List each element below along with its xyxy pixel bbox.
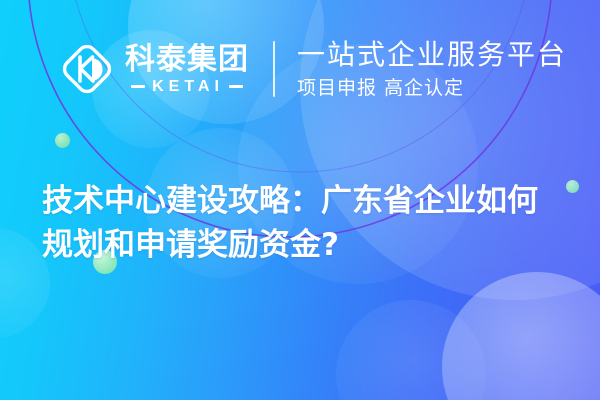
banner-header: 科泰集团 KETAI 一站式企业服务平台 项目申报 高企认定	[0, 38, 600, 100]
tagline-primary: 一站式企业服务平台	[297, 38, 567, 72]
brand-logo[interactable]: 科泰集团 KETAI	[58, 40, 249, 98]
decorative-circle-bottom-right	[442, 272, 600, 400]
ketai-diamond-kd-logo-icon	[58, 40, 116, 98]
decorative-green-dot-small	[55, 133, 70, 148]
header-divider	[273, 41, 275, 97]
wordmark-rule-right	[229, 85, 243, 88]
wordmark-rule-left	[131, 85, 145, 88]
banner-headline: 技术中心建设攻略：广东省企业如何规划和申请奖励资金?	[42, 179, 566, 267]
brand-name-en-row: KETAI	[125, 78, 249, 95]
brand-name-en: KETAI	[152, 78, 224, 95]
tagline-block: 一站式企业服务平台 项目申报 高企认定	[297, 38, 567, 100]
decorative-green-dot-right	[566, 180, 579, 193]
decorative-circle-bottom-middle	[336, 300, 486, 400]
brand-wordmark: 科泰集团 KETAI	[125, 44, 249, 95]
brand-name-cn: 科泰集团	[125, 44, 249, 76]
promo-banner: 科泰集团 KETAI 一站式企业服务平台 项目申报 高企认定 技术中心建设攻略：…	[0, 0, 600, 400]
tagline-secondary: 项目申报 高企认定	[297, 76, 567, 100]
